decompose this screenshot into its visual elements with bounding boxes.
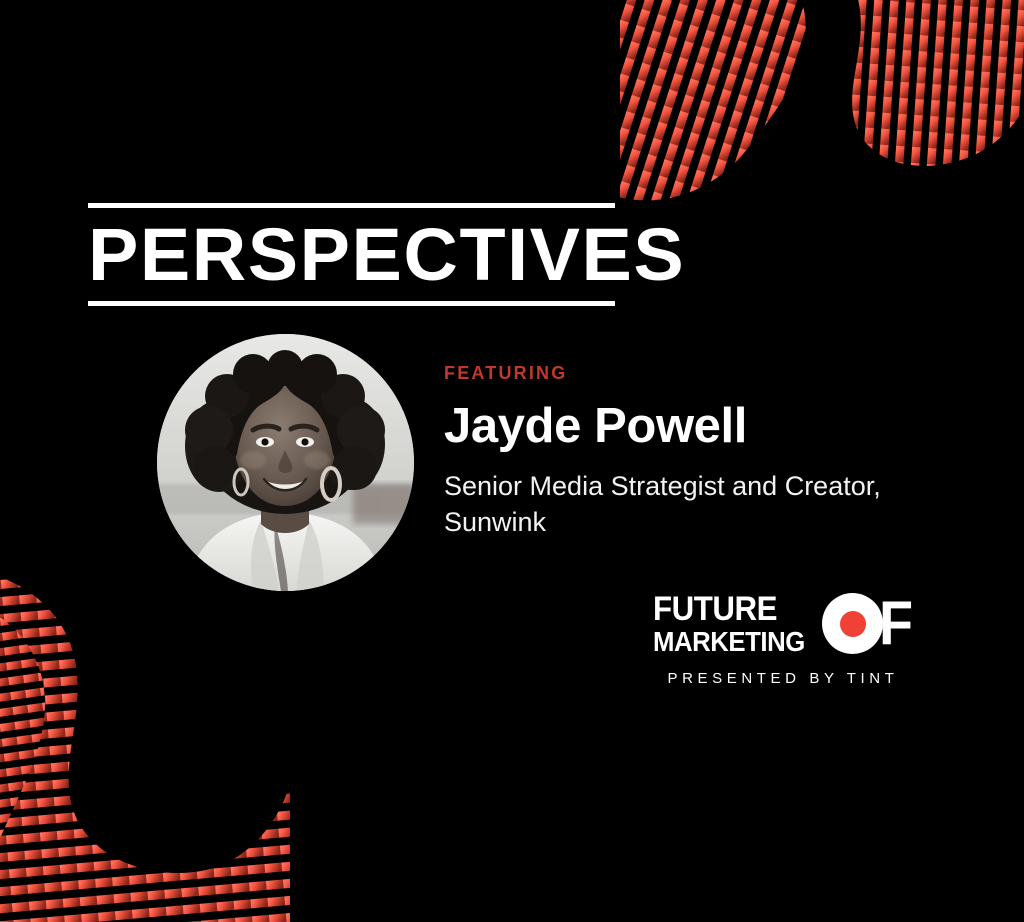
striped-blob-bottom-left-icon: [0, 552, 330, 922]
logo-wordmark: FUTURE MARKETING: [653, 592, 818, 656]
logo-tagline: PRESENTED BY TINT: [653, 670, 913, 687]
speaker-name: Jayde Powell: [444, 398, 984, 454]
future-of-marketing-logo: FUTURE MARKETING F PRESENTED BY TINT: [653, 592, 913, 687]
speaker-info-block: FEATURING Jayde Powell Senior Media Stra…: [444, 363, 984, 540]
perspectives-promo-graphic: PERSPECTIVES: [0, 0, 1024, 922]
logo-o-circle-icon: [822, 593, 883, 654]
logo-word-future: FUTURE: [653, 592, 805, 626]
striped-blob-top-right-icon: [620, 0, 1024, 226]
logo-word-marketing: MARKETING: [653, 628, 805, 656]
page-title: PERSPECTIVES: [88, 217, 626, 293]
featuring-label: FEATURING: [444, 363, 984, 384]
logo-of-mark: F: [822, 593, 917, 654]
logo-lockup: FUTURE MARKETING F: [653, 592, 913, 656]
title-block: PERSPECTIVES: [88, 203, 615, 306]
speaker-avatar: [157, 334, 414, 591]
speaker-title: Senior Media Strategist and Creator, Sun…: [444, 468, 944, 540]
title-rule-top: [88, 203, 615, 208]
logo-letter-f: F: [879, 596, 913, 652]
logo-red-dot-icon: [840, 611, 866, 637]
title-rule-bottom: [88, 301, 615, 306]
